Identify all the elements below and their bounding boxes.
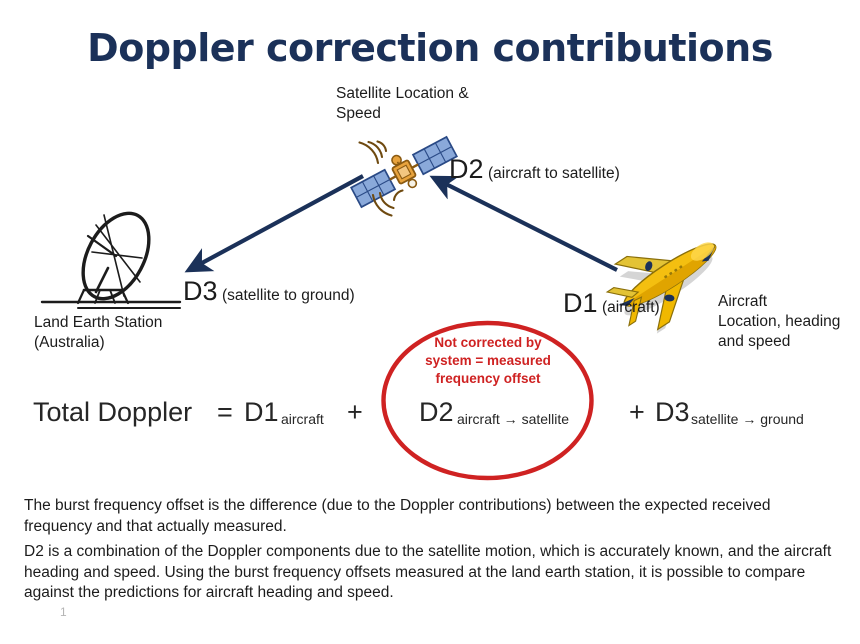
airplane-icon xyxy=(597,213,738,344)
link-code-d2: D2 xyxy=(449,154,484,184)
equation-total-label: Total Doppler xyxy=(33,397,192,428)
body-paragraph-1: The burst frequency offset is the differ… xyxy=(24,496,842,537)
link-code-d3: D3 xyxy=(183,276,218,306)
highlight-note-text: Not corrected by system = measured frequ… xyxy=(392,334,584,387)
arrow-satellite-to-ground-icon xyxy=(189,176,363,270)
arrow-aircraft-to-satellite-icon xyxy=(434,178,617,270)
page-title: Doppler correction contributions xyxy=(0,26,860,70)
link-label-d3: D3 (satellite to ground) xyxy=(183,276,355,307)
equation-equals-sign: = xyxy=(217,397,233,428)
satellite-signal-waves-icon xyxy=(360,142,403,216)
slide-canvas: Doppler correction contributions xyxy=(0,0,860,644)
body-paragraph-2: D2 is a combination of the Doppler compo… xyxy=(24,542,842,604)
page-number: 1 xyxy=(60,605,67,619)
link-code-d1: D1 xyxy=(563,288,598,318)
ground-station-caption: Land Earth Station (Australia) xyxy=(34,313,162,353)
satellite-caption: Satellite Location & Speed xyxy=(336,84,469,124)
link-label-d2: D2 (aircraft to satellite) xyxy=(449,154,620,185)
equation-term-d3-subscript: satellite → ground xyxy=(691,411,804,427)
equation-term-d2: D2 xyxy=(419,397,454,428)
satellite-icon xyxy=(348,130,461,213)
aircraft-caption: Aircraft Location, heading and speed xyxy=(718,292,840,351)
equation-term-d1: D1 xyxy=(244,397,279,428)
equation-term-d2-subscript: aircraft → satellite xyxy=(457,411,569,427)
link-label-d1: D1 (aircraft) xyxy=(563,288,660,319)
doppler-equation: Total Doppler = D1 aircraft + D2 aircraf… xyxy=(33,395,823,441)
equation-plus-2: + xyxy=(629,397,645,428)
link-description-d1: (aircraft) xyxy=(602,299,660,316)
equation-plus-1: + xyxy=(347,397,363,428)
equation-term-d3: D3 xyxy=(655,397,690,428)
satellite-dish-icon xyxy=(42,202,180,310)
link-description-d3: (satellite to ground) xyxy=(222,287,355,304)
link-description-d2: (aircraft to satellite) xyxy=(488,165,620,182)
equation-term-d1-subscript: aircraft xyxy=(281,411,324,427)
